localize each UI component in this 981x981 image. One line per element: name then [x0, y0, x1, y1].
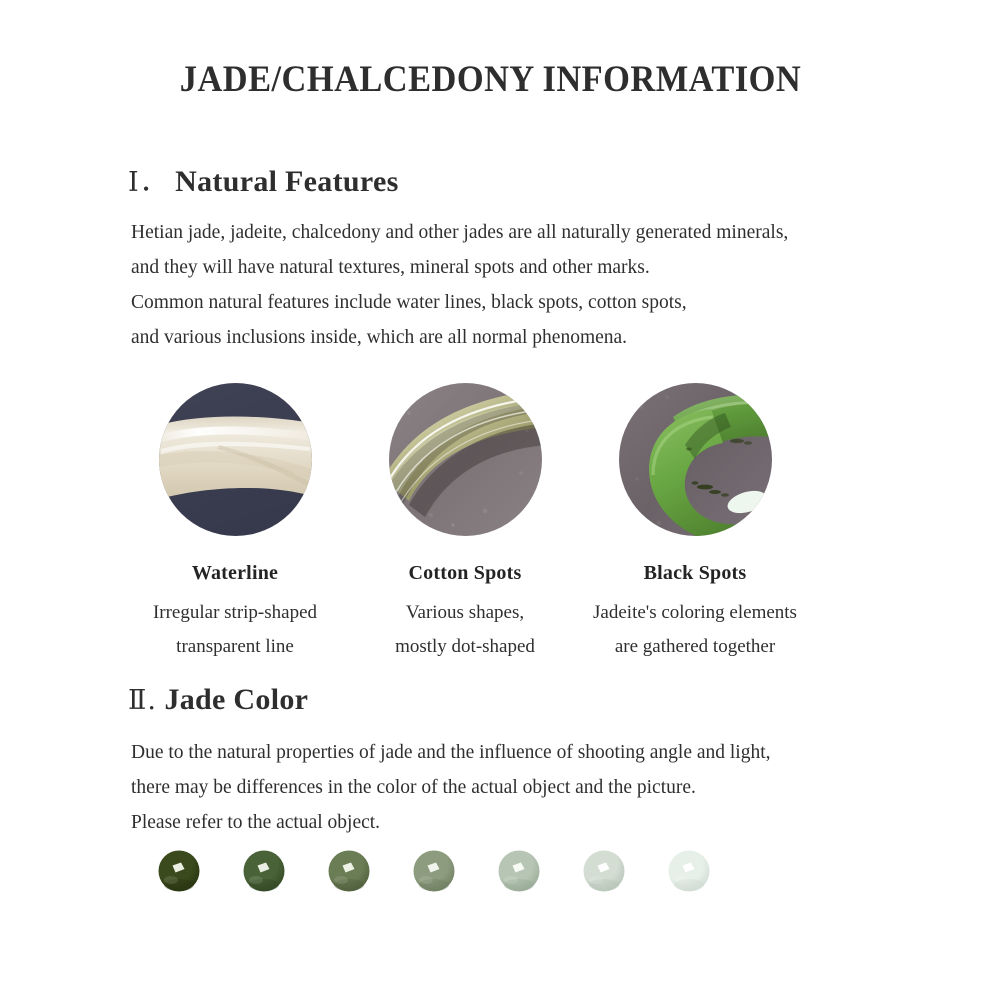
page-title: JADE/CHALCEDONY INFORMATION [34, 58, 946, 101]
feature-photos-row [120, 383, 860, 543]
caption-line: Irregular strip-shaped [110, 596, 360, 630]
jade-color-bead [243, 850, 285, 892]
caption-title: Cotton Spots [340, 562, 590, 585]
black-spots-photo [619, 383, 772, 536]
jade-color-swatch-row [158, 850, 758, 906]
feature-item-black-spots [580, 383, 810, 538]
jade-color-paragraph: Due to the natural properties of jade an… [131, 735, 911, 840]
section-numeral-2: Ⅱ. [128, 685, 157, 716]
caption-title: Black Spots [570, 562, 820, 585]
jade-color-bead [583, 850, 625, 892]
caption-description: Various shapes, mostly dot-shaped [340, 596, 590, 664]
paragraph-line: and they will have natural textures, min… [131, 250, 911, 285]
caption-line: are gathered together [570, 630, 820, 664]
caption-line: Jadeite's coloring elements [570, 596, 820, 630]
feature-caption-cotton-spots: Cotton Spots Various shapes, mostly dot-… [340, 562, 590, 664]
caption-line: mostly dot-shaped [340, 630, 590, 664]
jade-color-bead [413, 850, 455, 892]
paragraph-line: there may be differences in the color of… [131, 770, 911, 805]
waterline-photo [159, 383, 312, 536]
feature-item-cotton-spots [350, 383, 580, 538]
jade-color-bead [328, 850, 370, 892]
jade-color-bead [668, 850, 710, 892]
section-heading-jade-color: Ⅱ. Jade Color [128, 683, 308, 717]
jade-color-bead [498, 850, 540, 892]
paragraph-line: Due to the natural properties of jade an… [131, 735, 911, 770]
paragraph-line: Please refer to the actual object. [131, 805, 911, 840]
section-heading-natural-features: Ⅰ． Natural Features [128, 160, 399, 199]
caption-description: Jadeite's coloring elements are gathered… [570, 596, 820, 664]
section-title-2: Jade Color [164, 683, 308, 716]
paragraph-line: Hetian jade, jadeite, chalcedony and oth… [131, 215, 911, 250]
caption-line: transparent line [110, 630, 360, 664]
paragraph-line: Common natural features include water li… [131, 285, 911, 320]
section-title-1: Natural Features [175, 165, 398, 198]
caption-title: Waterline [110, 562, 360, 585]
paragraph-line: and various inclusions inside, which are… [131, 320, 911, 355]
cotton-spots-photo [389, 383, 542, 536]
jade-color-bead [158, 850, 200, 892]
section-numeral-1: Ⅰ． [128, 167, 168, 198]
natural-features-paragraph: Hetian jade, jadeite, chalcedony and oth… [131, 215, 911, 355]
feature-item-waterline [120, 383, 350, 538]
feature-caption-black-spots: Black Spots Jadeite's coloring elements … [570, 562, 820, 664]
caption-description: Irregular strip-shaped transparent line [110, 596, 360, 664]
information-page: JADE/CHALCEDONY INFORMATION Ⅰ． Natural F… [0, 0, 981, 981]
feature-caption-waterline: Waterline Irregular strip-shaped transpa… [110, 562, 360, 664]
caption-line: Various shapes, [340, 596, 590, 630]
